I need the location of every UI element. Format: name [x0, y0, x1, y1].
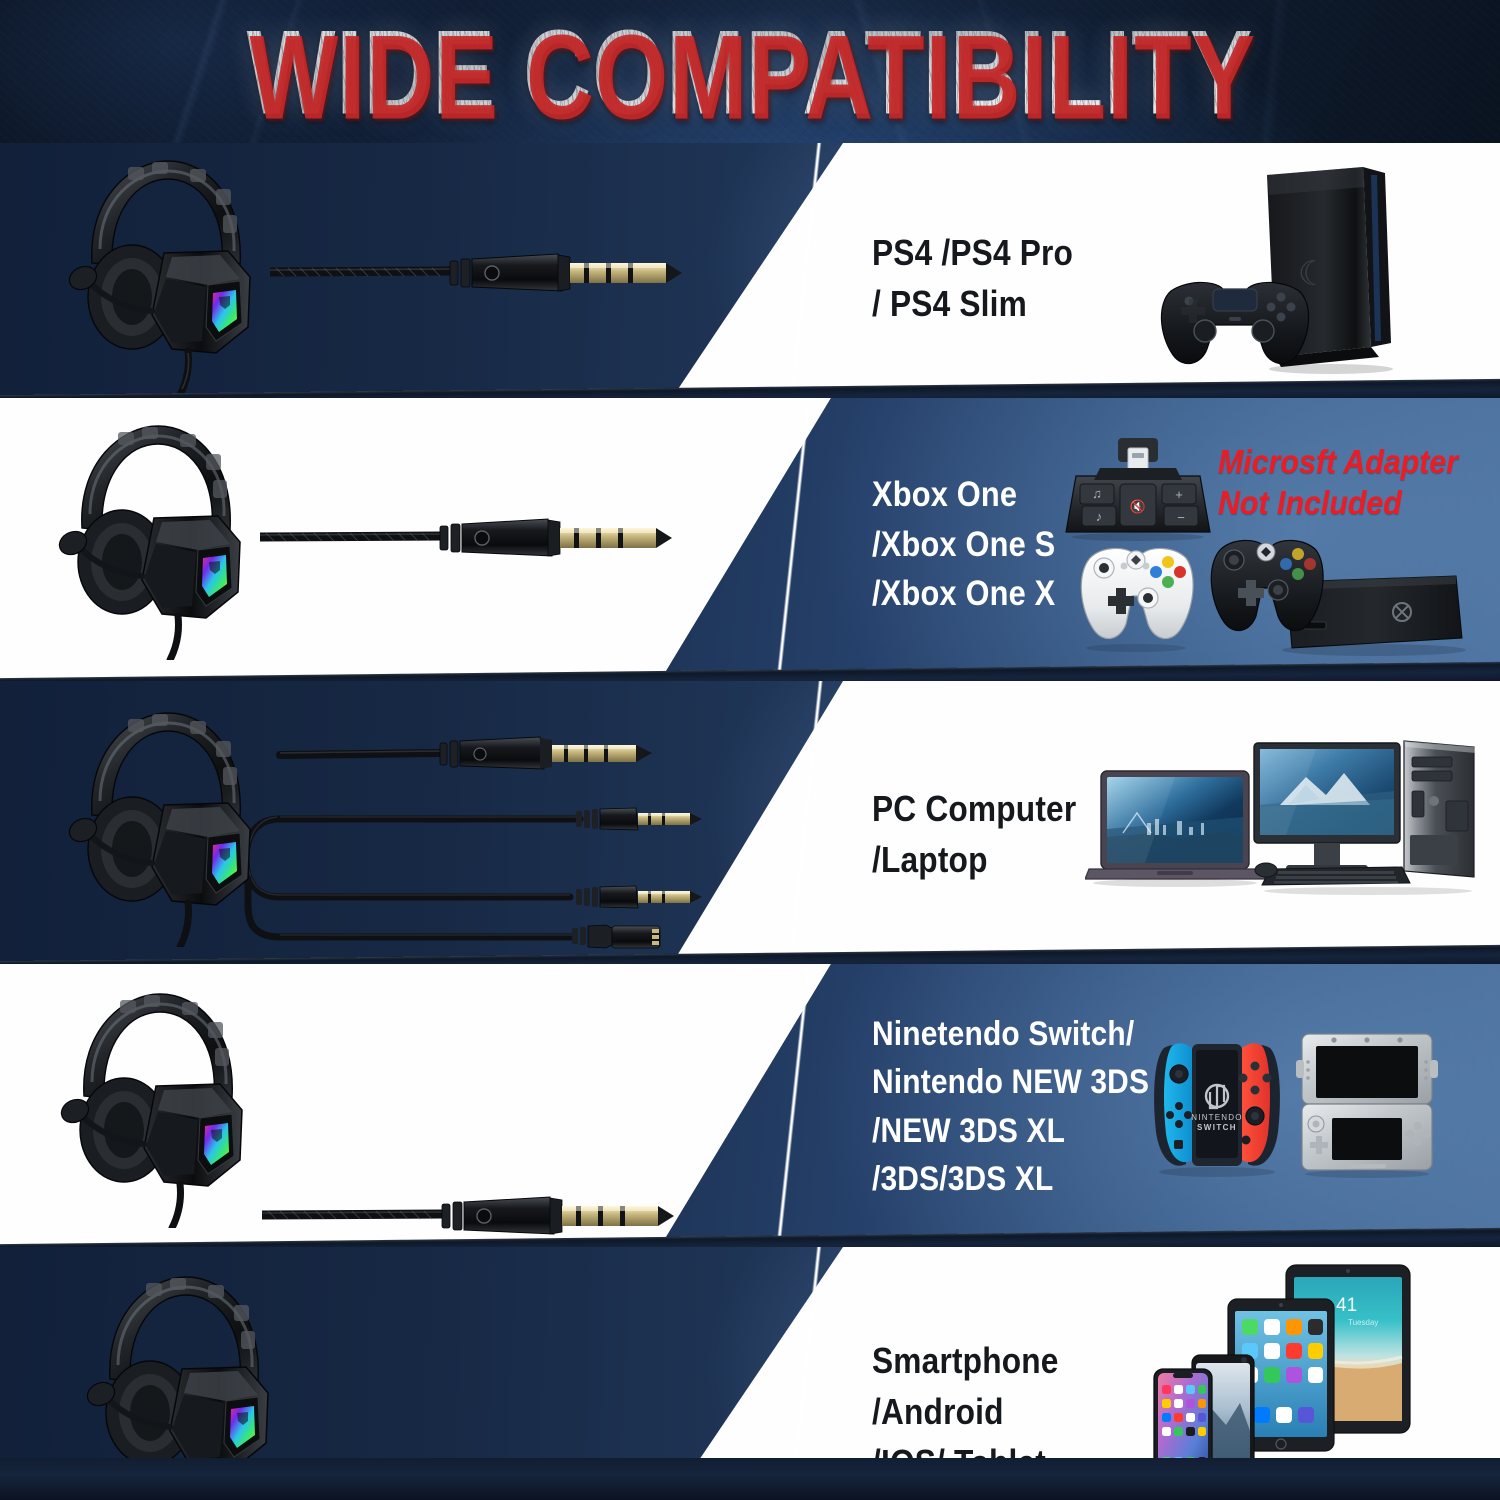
svg-text:♫: ♫	[1092, 486, 1102, 501]
row-nintendo-label: Ninetendo Switch/ Nintendo NEW 3DS /NEW …	[872, 1010, 1149, 1203]
svg-text:−: −	[1177, 510, 1185, 525]
ps4-console-image: ☾	[1135, 161, 1455, 386]
svg-text:Tuesday: Tuesday	[1348, 1318, 1378, 1327]
svg-text:SWITCH: SWITCH	[1197, 1123, 1237, 1132]
svg-text:🔇: 🔇	[1130, 499, 1146, 514]
headset-image-xbox	[30, 410, 260, 660]
headset-image-ps4	[40, 145, 270, 395]
xbox-one-x-console-image	[1208, 526, 1470, 663]
nintendo-switch-image: NINTENDO SWITCH	[1146, 1036, 1288, 1183]
svg-text:☾: ☾	[1298, 256, 1328, 293]
new-3ds-xl-image	[1292, 1030, 1442, 1183]
xbox-headset-adapter-image: ♫♪ +− 🔇	[1058, 436, 1218, 549]
row-pc: PC Computer /Laptop	[0, 681, 1500, 964]
footer-bar	[0, 1458, 1500, 1500]
svg-text:♪: ♪	[1096, 509, 1103, 524]
cable-plug-ps4	[270, 243, 710, 308]
laptop-image	[1085, 767, 1265, 894]
headset-image-pc	[40, 697, 270, 947]
page-title: WIDE COMPATIBILITY	[30, 12, 1470, 132]
row-xbox: Xbox One /Xbox One S /Xbox One X Microsf…	[0, 398, 1500, 681]
desktop-pc-image	[1252, 739, 1484, 902]
row-ps4: PS4 /PS4 Pro / PS4 Slim	[0, 143, 1500, 398]
row-ps4-label: PS4 /PS4 Pro / PS4 Slim	[872, 227, 1073, 329]
svg-text:+: +	[1175, 487, 1183, 502]
xbox-controller-white-image	[1072, 538, 1200, 661]
headset-image-nintendo	[32, 978, 262, 1228]
adapter-not-included-note: Microsft Adapter Not Included	[1218, 442, 1458, 524]
svg-text:41: 41	[1336, 1295, 1357, 1316]
header-banner: WIDE COMPATIBILITY	[0, 0, 1500, 143]
svg-text:NINTENDO: NINTENDO	[1191, 1113, 1242, 1122]
row-xbox-label: Xbox One /Xbox One S /Xbox One X	[872, 470, 1055, 619]
cable-y-splitter-pc	[240, 709, 740, 964]
row-pc-label: PC Computer /Laptop	[872, 783, 1076, 885]
cable-plug-xbox	[260, 508, 700, 573]
row-nintendo: Ninetendo Switch/ Nintendo NEW 3DS /NEW …	[0, 964, 1500, 1247]
compatibility-rows: PS4 /PS4 Pro / PS4 Slim	[0, 143, 1500, 1500]
